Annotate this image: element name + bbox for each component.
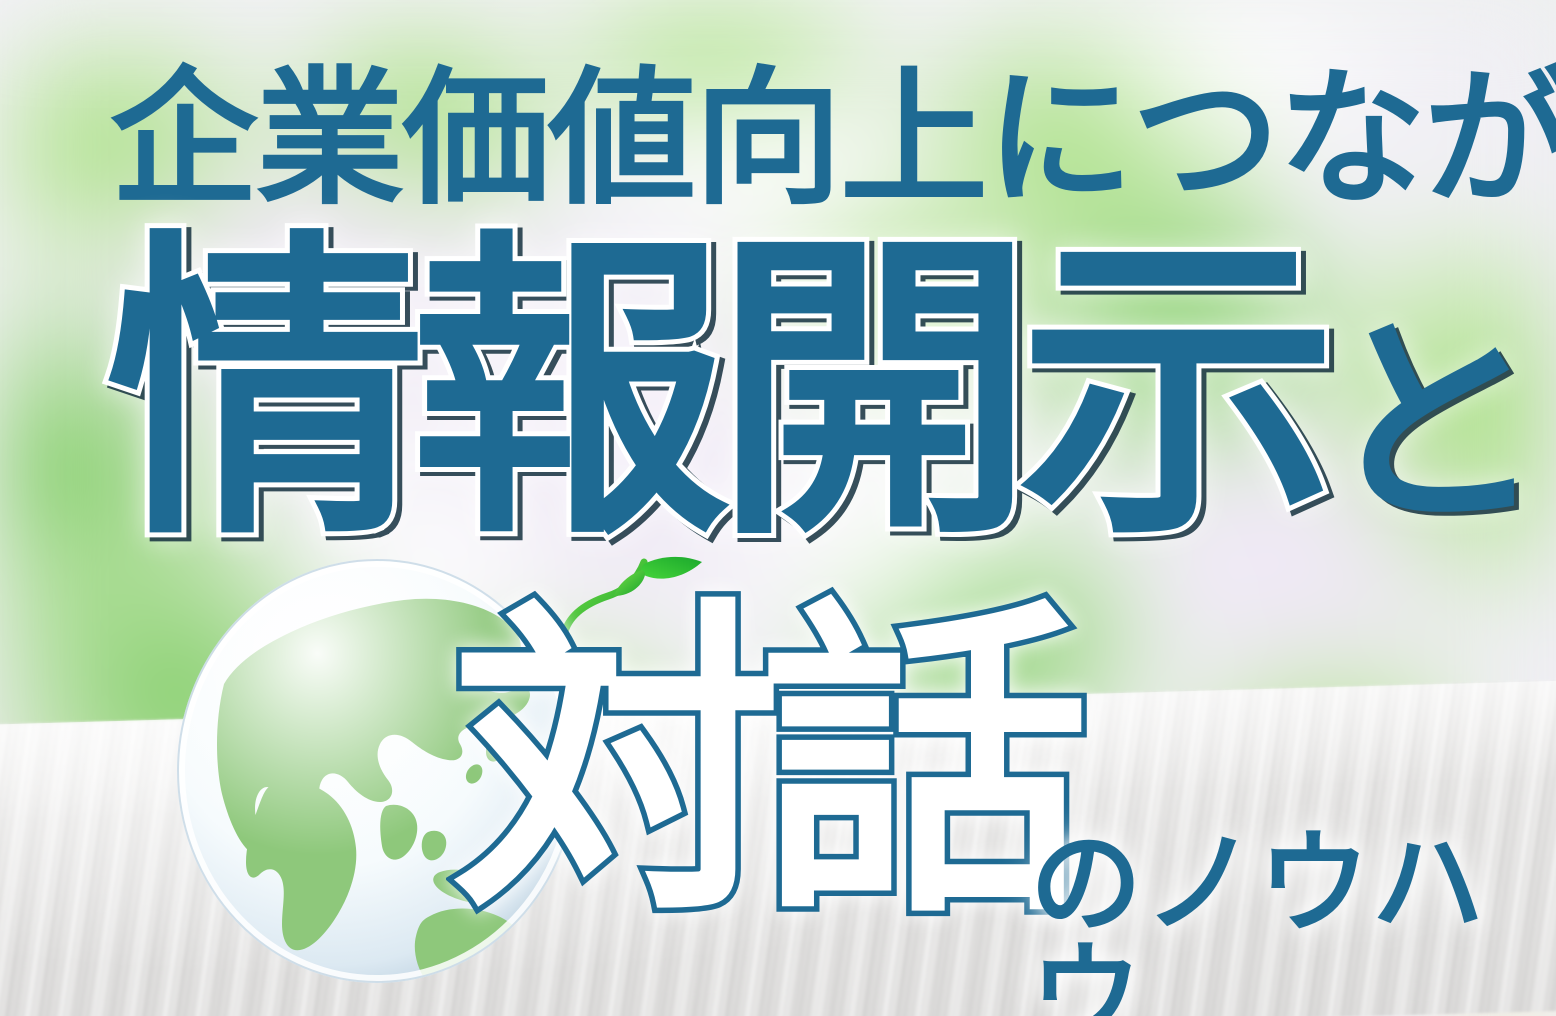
headline-line-1: 情報開示と [106,232,1546,552]
headline-suffix: のノウハウ [1030,828,1556,1016]
headline-line-1-outlined: 情報開示 [106,206,1322,578]
headline-line-1-plain: と [1322,294,1546,555]
kicker-text: 企業価値向上につながる [110,65,1556,213]
poster-canvas: 企業価値向上につながる [0,0,1556,1016]
headline-line-2: 対話 [452,600,1068,930]
